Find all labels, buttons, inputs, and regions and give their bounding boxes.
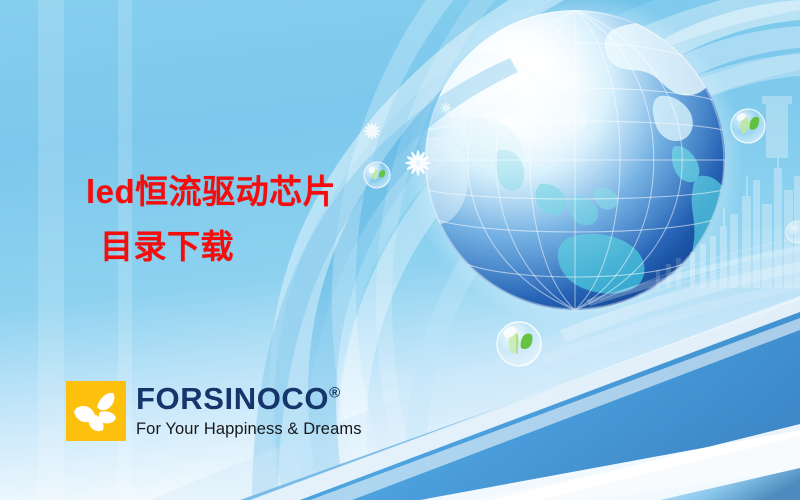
earth-globe [407,0,743,328]
headline-text: led恒流驱动芯片 目录下载 [86,164,416,275]
diagonal-ribbon-bands [150,244,800,500]
globe-longitude-lines [468,10,683,310]
city-skyline-silhouette [596,96,800,312]
registered-trademark-icon: ® [329,385,341,402]
logo-tagline: For Your Happiness & Dreams [136,421,362,438]
light-streaks [540,246,800,366]
globe-latitude-lines [425,10,725,310]
starburst-flower-small [364,123,381,140]
logo-company-name: FORSINOCO® [136,383,362,414]
starburst-flower-tiny [440,102,452,114]
headline-line-1: led恒流驱动芯片 [86,164,416,219]
logo-company-name-text: FORSINOCO [136,381,329,416]
bubble-right [731,109,765,143]
arc-ribbons-upper-right [614,0,800,146]
promo-banner: led恒流驱动芯片 目录下载 FORSINOCO® Fo [0,0,800,500]
continents [415,15,732,313]
bubble-far-right-edge [786,221,800,243]
logo-wordmark: FORSINOCO® For Your Happiness & Dreams [136,381,362,438]
four-petal-pinwheel-icon [66,381,126,441]
bubble-large-center [497,322,541,366]
headline-line-2: 目录下载 [86,219,416,274]
company-logo[interactable]: FORSINOCO® For Your Happiness & Dreams [66,381,362,441]
